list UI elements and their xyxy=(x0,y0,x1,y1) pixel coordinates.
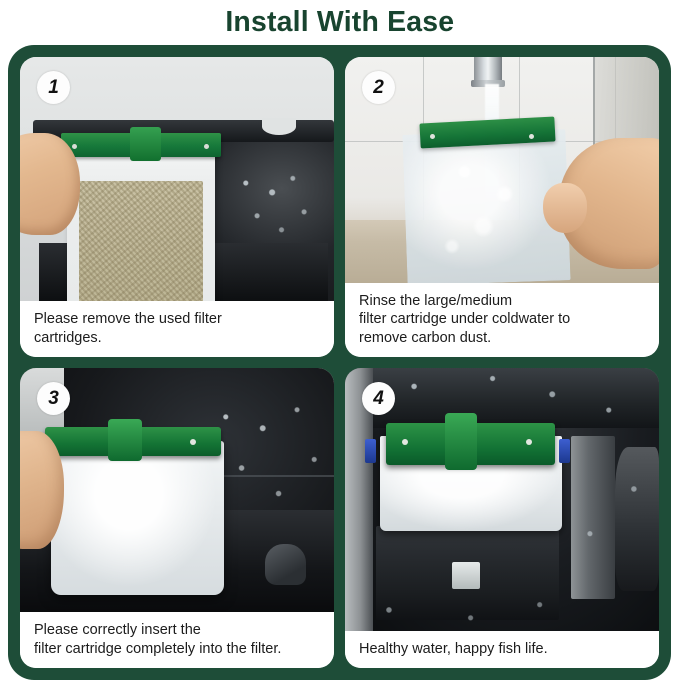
step-caption-1: Please remove the used filter cartridges… xyxy=(20,301,334,357)
clip-hole-left xyxy=(72,144,77,149)
clip-hole-right xyxy=(190,439,196,445)
step-badge-4: 4 xyxy=(362,382,395,415)
clip-latch-tab xyxy=(130,127,161,161)
step-caption-2: Rinse the large/medium filter cartridge … xyxy=(345,283,659,357)
water-droplets xyxy=(227,169,321,247)
clip-hole-right xyxy=(204,144,209,149)
clip-hole-left xyxy=(430,134,435,139)
title-bar: Install With Ease xyxy=(0,0,679,45)
step-badge-1: 1 xyxy=(37,71,70,104)
hand xyxy=(20,133,80,236)
finger xyxy=(543,183,587,233)
impeller-cover xyxy=(265,544,306,586)
step-card-2: 2 Rinse the large/medium filter cartridg… xyxy=(345,57,659,357)
step-badge-2: 2 xyxy=(362,71,395,104)
step-badge-3: 3 xyxy=(37,382,70,415)
step-card-4: 4 Healthy water, happy fish life. xyxy=(345,368,659,668)
dirty-carbon-media xyxy=(79,181,203,301)
photo-insert-cartridge: 3 xyxy=(20,368,334,612)
step-card-3: 3 Please correctly insert the filter car… xyxy=(20,368,334,668)
photo-remove-used-cartridge: 1 xyxy=(20,57,334,301)
water-splash xyxy=(427,147,553,271)
page-title: Install With Ease xyxy=(225,8,454,37)
photo-rinse-cartridge: 2 xyxy=(345,57,659,283)
step-caption-3: Please correctly insert the filter cartr… xyxy=(20,612,334,668)
filter-cartridge xyxy=(67,142,215,301)
filter-cartridge xyxy=(51,441,224,595)
steps-panel: 1 Please remove the used filter cartridg… xyxy=(8,45,671,680)
clip-hole-right xyxy=(529,134,534,139)
photo-installed-filter: 4 xyxy=(345,368,659,631)
step-card-1: 1 Please remove the used filter cartridg… xyxy=(20,57,334,357)
clip-latch-tab xyxy=(108,419,143,461)
install-guide-infographic: Install With Ease xyxy=(0,0,679,688)
step-caption-4: Healthy water, happy fish life. xyxy=(345,631,659,668)
